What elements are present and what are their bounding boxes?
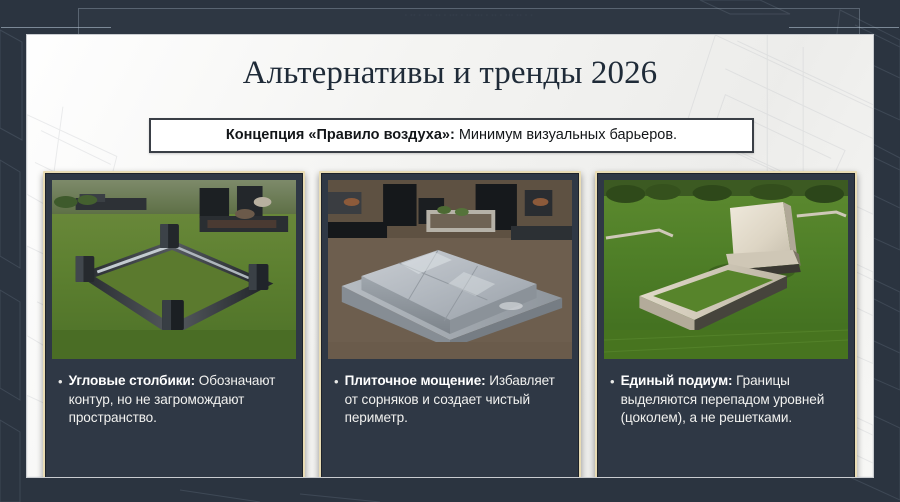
- presentation-slide: Альтернативы и тренды 2026 Концепция «Пр…: [26, 34, 874, 478]
- slide-viewer: · ·· · ··· ·· · ··· · ·· ··· · ·· · ··· …: [0, 0, 900, 502]
- slide-title: Альтернативы и тренды 2026: [27, 54, 873, 92]
- card-row: • Угловые столбики: Обозначают контур, н…: [43, 171, 859, 478]
- photo-corner-posts: [52, 180, 296, 359]
- caption-text: Угловые столбики: Обозначают контур, но …: [69, 372, 292, 428]
- top-decorative-bar: · ·· · ··· ·· · ··· · ·· ··· · ·· · ··· …: [78, 8, 860, 34]
- photo-tiled-paving: [328, 180, 572, 359]
- concept-banner-body: Минимум визуальных барьеров.: [455, 127, 677, 143]
- card-single-podium[interactable]: • Единый подиум: Границы выделяются пере…: [595, 171, 857, 478]
- caption-heading: Угловые столбики:: [69, 373, 196, 388]
- topbar-rule-right: [789, 27, 899, 28]
- topbar-rule-left: [1, 27, 111, 28]
- caption-text: Единый подиум: Границы выделяются перепа…: [621, 372, 844, 428]
- caption-heading: Единый подиум:: [621, 373, 733, 388]
- bullet-icon: •: [334, 372, 339, 391]
- caption-heading: Плиточное мощение:: [345, 373, 486, 388]
- caption-text: Плиточное мощение: Избавляет от сорняков…: [345, 372, 568, 428]
- photo-single-podium: [604, 180, 848, 359]
- concept-banner-text: Концепция «Правило воздуха»: Минимум виз…: [226, 127, 677, 144]
- bullet-icon: •: [610, 372, 615, 391]
- bullet-icon: •: [58, 372, 63, 391]
- card-corner-posts[interactable]: • Угловые столбики: Обозначают контур, н…: [43, 171, 305, 478]
- caption-tiled-paving: • Плиточное мощение: Избавляет от сорняк…: [328, 359, 572, 428]
- concept-banner: Концепция «Правило воздуха»: Минимум виз…: [149, 118, 754, 153]
- card-tiled-paving[interactable]: • Плиточное мощение: Избавляет от сорняк…: [319, 171, 581, 478]
- topbar-faint-text: · ·· · ··· ·· · ··· · ·· ··· · ·· · ··· …: [79, 12, 859, 19]
- caption-corner-posts: • Угловые столбики: Обозначают контур, н…: [52, 359, 296, 428]
- caption-single-podium: • Единый подиум: Границы выделяются пере…: [604, 359, 848, 428]
- concept-banner-label: Концепция «Правило воздуха»:: [226, 127, 455, 143]
